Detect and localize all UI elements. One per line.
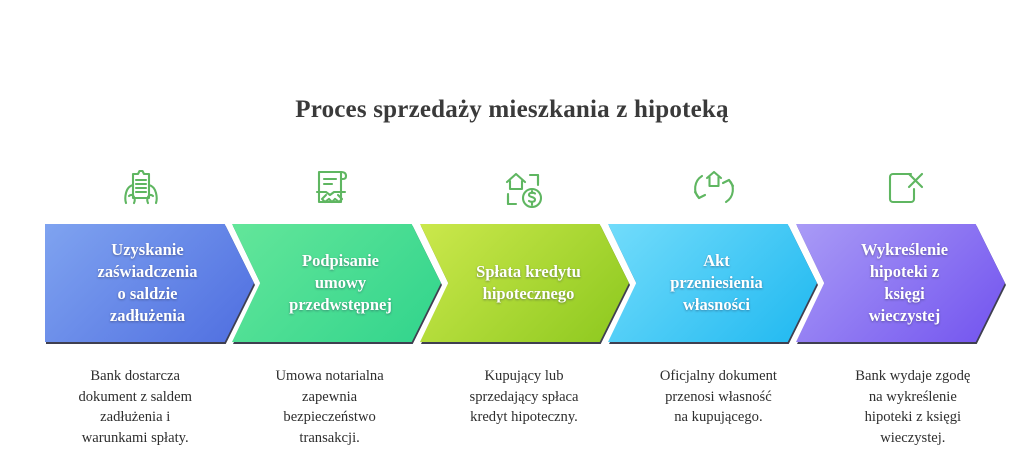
process-infographic: Proces sprzedaży mieszkania z hipoteką xyxy=(0,0,1024,473)
process-step-4-label: Akt przeniesienia własności xyxy=(670,250,763,316)
house-transfer-arrows-icon xyxy=(685,160,743,218)
contract-handshake-icon xyxy=(303,160,361,218)
step-caption-5: Bank wydaje zgodę na wykreślenie hipotek… xyxy=(816,366,1010,456)
process-step-1[interactable]: Uzyskanie zaświadczenia o saldzie zadłuż… xyxy=(45,224,254,342)
document-cancel-icon xyxy=(876,160,934,218)
process-step-3[interactable]: Spłata kredytu hipotecznego xyxy=(420,224,629,342)
process-step-5[interactable]: Wykreślenie hipoteki z księgi wieczystej xyxy=(796,224,1005,342)
process-step-2[interactable]: Podpisanie umowy przedwstępnej xyxy=(232,224,441,342)
process-step-1-label: Uzyskanie zaświadczenia o saldzie zadłuż… xyxy=(98,239,198,327)
process-step-2-label: Podpisanie umowy przedwstępnej xyxy=(289,250,392,316)
icon-row xyxy=(45,158,1000,220)
step-icon-1 xyxy=(45,158,236,220)
page-title: Proces sprzedaży mieszkania z hipoteką xyxy=(0,96,1024,124)
step-caption-2: Umowa notarialna zapewnia bezpieczeństwo… xyxy=(232,366,426,456)
step-caption-1: Bank dostarcza dokument z saldem zadłuże… xyxy=(38,366,232,456)
hands-holding-document-icon xyxy=(112,160,170,218)
step-caption-4: Oficjalny dokument przenosi własność na … xyxy=(621,366,815,456)
house-money-exchange-icon xyxy=(494,160,552,218)
process-step-4[interactable]: Akt przeniesienia własności xyxy=(608,224,817,342)
step-icon-2 xyxy=(236,158,427,220)
step-caption-3: Kupujący lub sprzedający spłaca kredyt h… xyxy=(427,366,621,456)
step-icon-4 xyxy=(618,158,809,220)
step-icon-5 xyxy=(809,158,1000,220)
step-icon-3 xyxy=(427,158,618,220)
caption-row: Bank dostarcza dokument z saldem zadłuże… xyxy=(38,366,1010,456)
process-chevron-row: Uzyskanie zaświadczenia o saldzie zadłuż… xyxy=(45,224,1002,342)
process-step-3-label: Spłata kredytu hipotecznego xyxy=(476,261,581,305)
process-step-5-label: Wykreślenie hipoteki z księgi wieczystej xyxy=(861,239,948,327)
